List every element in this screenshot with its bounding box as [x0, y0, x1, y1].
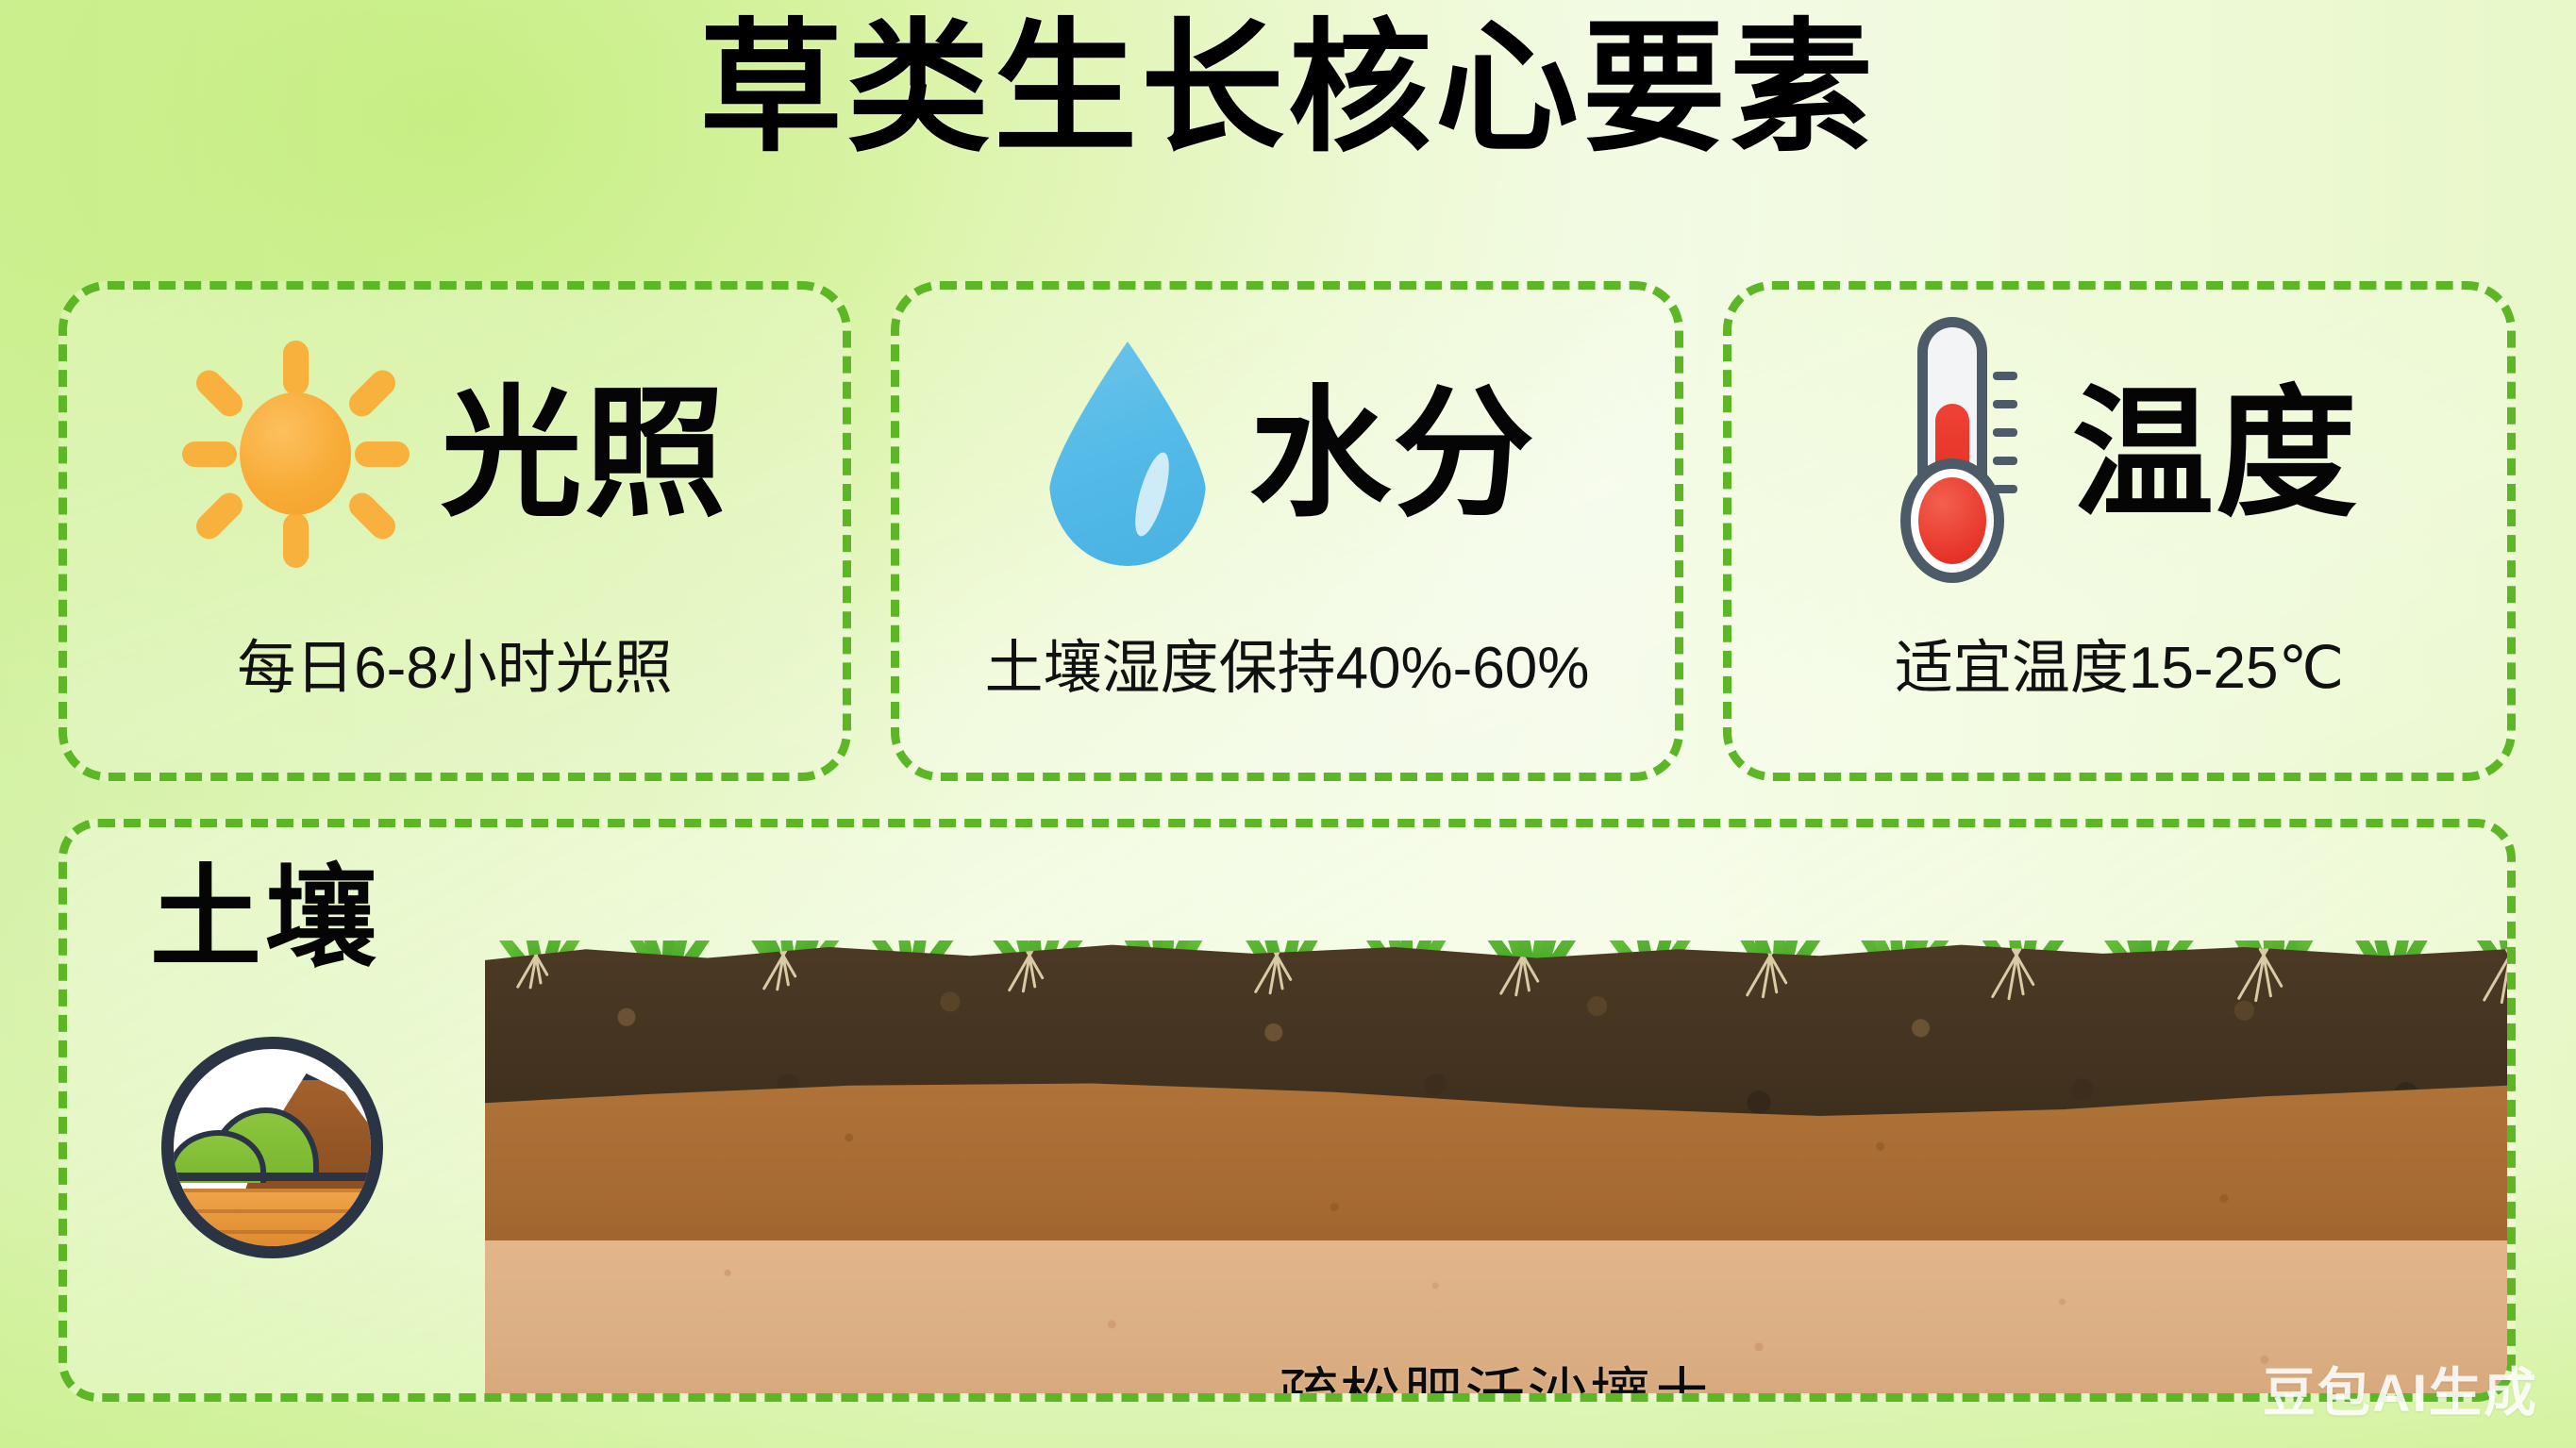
sun-icon [182, 341, 409, 567]
soil-icon-divider [174, 1173, 371, 1181]
grass-root [2236, 947, 2268, 1000]
soil-layers-icon [161, 1037, 383, 1258]
thermometer-tick-3 [1993, 428, 2017, 437]
card-soil[interactable]: 土壤 疏松肥沃沙壤土 [59, 819, 2516, 1402]
card-water-title: 水分 [1249, 383, 1536, 524]
sun-ray-s [283, 513, 309, 568]
card-temperature-header: 温度 [1731, 290, 2507, 618]
card-soil-caption: 疏松肥沃沙壤土 [485, 1348, 2507, 1402]
water-drop-body [1049, 341, 1206, 566]
thermometer-tick-2 [1993, 400, 2017, 408]
grass-root [2501, 948, 2507, 1005]
card-temperature[interactable]: 温度 适宜温度15-25℃ [1723, 281, 2516, 781]
sun-ray-nw [191, 365, 247, 422]
page-title: 草类生长核心要素 [0, 13, 2576, 164]
sun-ray-sw [191, 488, 247, 544]
card-water[interactable]: 水分 土壤湿度保持40%-60% [891, 281, 1683, 781]
card-soil-title: 土壤 [150, 863, 380, 974]
sun-ray-w [182, 441, 237, 467]
sun-ray-se [343, 488, 400, 544]
water-drop-icon [1038, 336, 1217, 572]
thermometer-mercury-bulb [1918, 477, 1986, 564]
card-sunlight-caption: 每日6-8小时光照 [237, 620, 673, 705]
card-water-caption: 土壤湿度保持40%-60% [985, 620, 1590, 705]
sun-ray-e [355, 441, 410, 467]
card-sunlight-title: 光照 [441, 383, 728, 524]
thermometer-tick-1 [1993, 372, 2017, 380]
card-temperature-caption: 适宜温度15-25℃ [1895, 620, 2344, 705]
soil-cross-section: 疏松肥沃沙壤土 [485, 940, 2507, 1402]
sun-ray-ne [343, 365, 400, 422]
sun-ray-n [283, 341, 309, 395]
sun-disc [240, 392, 351, 515]
watermark: 豆包AI生成 [2263, 1351, 2538, 1427]
card-sunlight-header: 光照 [67, 290, 843, 618]
soil-icon-strata [174, 1189, 371, 1246]
card-sunlight[interactable]: 光照 每日6-8小时光照 [59, 281, 851, 781]
thermometer-icon [1880, 317, 2040, 591]
card-water-header: 水分 [899, 290, 1675, 618]
thermometer-tick-4 [1993, 457, 2017, 465]
card-temperature-title: 温度 [2072, 383, 2359, 524]
factor-cards-row: 光照 每日6-8小时光照 水分 土壤湿度保持40%-60% [59, 281, 2516, 781]
